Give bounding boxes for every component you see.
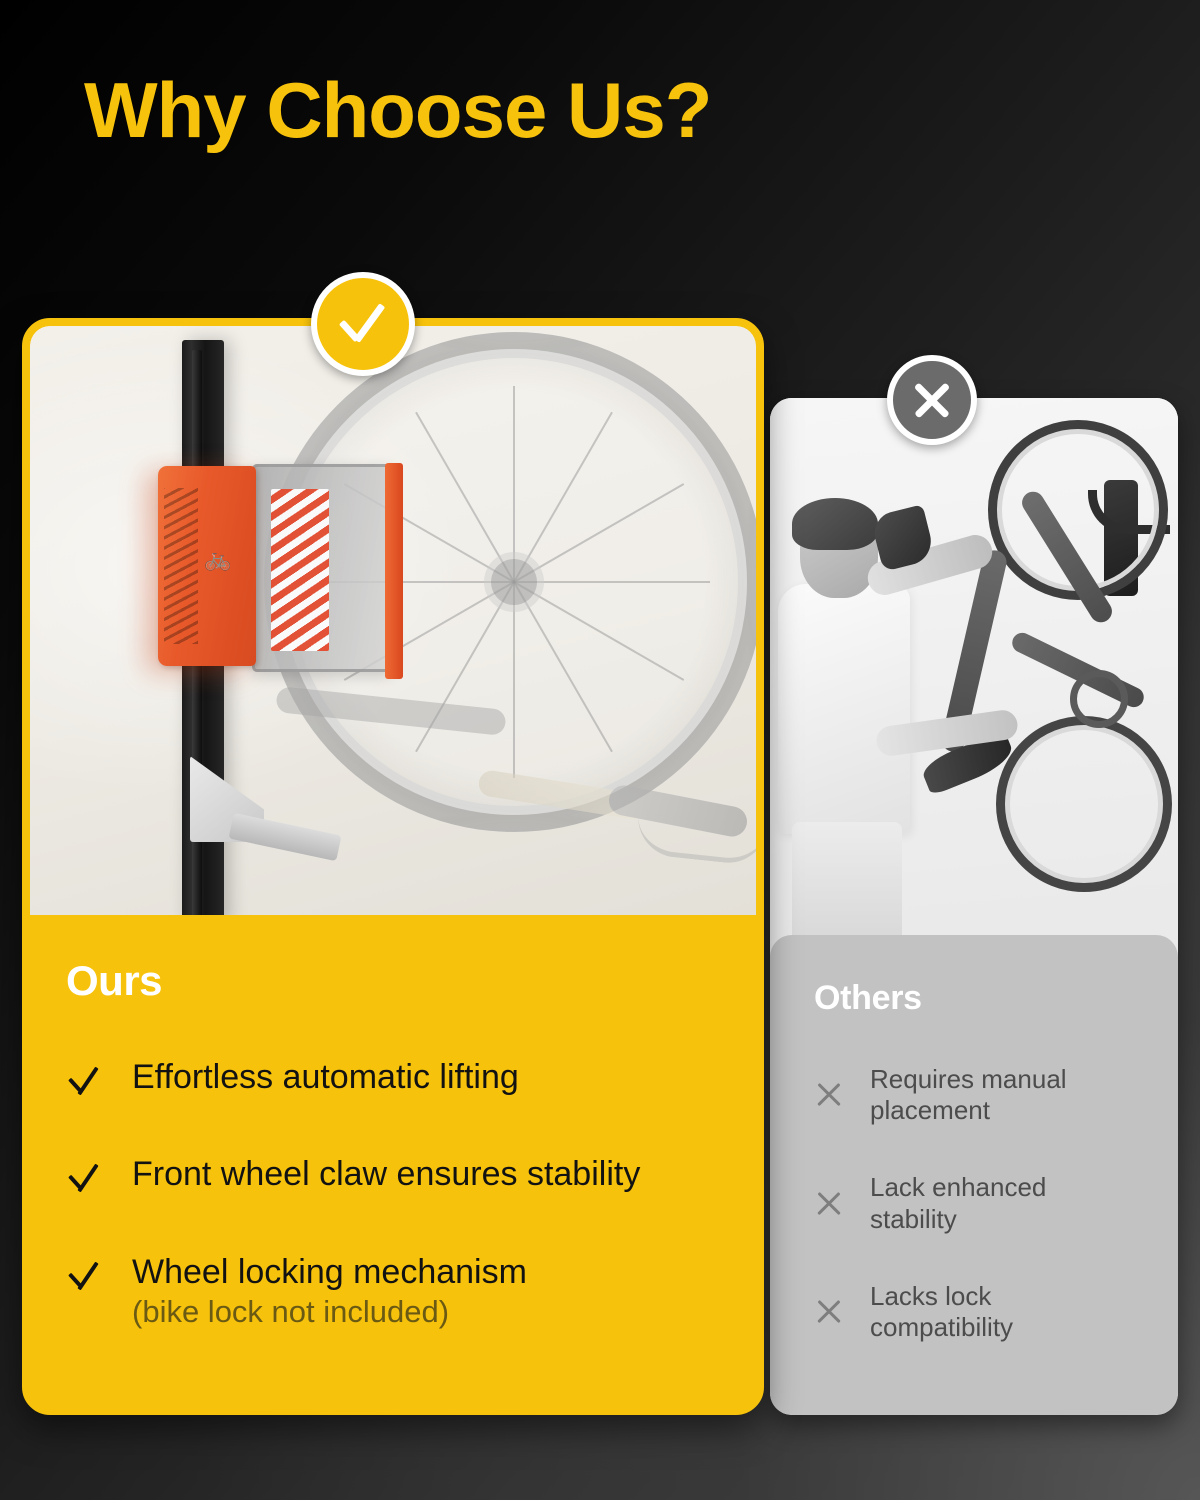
comparison-cards: Others Requires manual placement Lack en… (0, 0, 1200, 1500)
list-item: Lack enhanced stability (814, 1172, 1152, 1234)
bicycle-logo-icon: 🚲 (204, 546, 231, 572)
ours-feature-text: Wheel locking mechanism (132, 1253, 527, 1291)
wheel-hub (491, 559, 537, 605)
others-feature-text: Lacks lock compatibility (870, 1281, 1120, 1343)
others-heading: Others (814, 979, 1152, 1018)
clamp-grip-pads (271, 489, 329, 651)
list-item: Front wheel claw ensures stability (66, 1154, 726, 1195)
list-item: Requires manual placement (814, 1064, 1152, 1126)
bicycle-handlebar (448, 756, 748, 876)
list-item: Lacks lock compatibility (814, 1281, 1152, 1343)
check-glyph (338, 299, 388, 349)
ours-feature-list: Effortless automatic lifting Front wheel… (66, 1057, 726, 1331)
ours-feature-text-group: Wheel locking mechanism (bike lock not i… (132, 1252, 527, 1331)
x-circle-icon (887, 355, 977, 445)
person-hair (792, 498, 878, 550)
bicycle-rear-wheel (996, 716, 1172, 892)
others-feature-text: Requires manual placement (870, 1064, 1120, 1126)
wheel-claw-clamp (252, 464, 392, 672)
person-torso (778, 584, 910, 834)
check-icon (66, 1258, 100, 1292)
others-feature-text: Lack enhanced stability (870, 1172, 1120, 1234)
device-vent-louvers (164, 488, 198, 644)
bicycle-crankset (1070, 670, 1128, 728)
ours-feature-text: Front wheel claw ensures stability (132, 1154, 640, 1195)
list-item: Wheel locking mechanism (bike lock not i… (66, 1252, 726, 1331)
wheel-spoke (513, 386, 515, 582)
ours-feature-text: Effortless automatic lifting (132, 1057, 519, 1098)
check-icon (66, 1063, 100, 1097)
check-icon (66, 1160, 100, 1194)
x-glyph (910, 378, 954, 422)
bike-lift-device: 🚲 (158, 466, 256, 666)
ours-heading: Ours (66, 957, 726, 1005)
clamp-outer-frame (385, 463, 403, 679)
ours-panel: Ours Effortless automatic lifting Front … (30, 915, 756, 1407)
x-icon (814, 1297, 844, 1327)
others-photo (770, 398, 1178, 958)
others-card: Others Requires manual placement Lack en… (770, 398, 1178, 1415)
x-icon (814, 1080, 844, 1110)
lift-foot-assembly (182, 756, 338, 866)
x-icon (814, 1189, 844, 1219)
others-feature-list: Requires manual placement Lack enhanced … (814, 1064, 1152, 1343)
check-circle-icon (311, 272, 415, 376)
ours-feature-subtext: (bike lock not included) (132, 1293, 527, 1331)
foot-arm (228, 813, 341, 861)
ours-photo: 🚲 (30, 326, 756, 926)
wheel-spoke (514, 581, 710, 583)
list-item: Effortless automatic lifting (66, 1057, 726, 1098)
ours-card: 🚲 Ours Effortless automatic lifting (22, 318, 764, 1415)
others-panel: Others Requires manual placement Lack en… (770, 935, 1178, 1415)
wheel-spoke (513, 582, 515, 778)
